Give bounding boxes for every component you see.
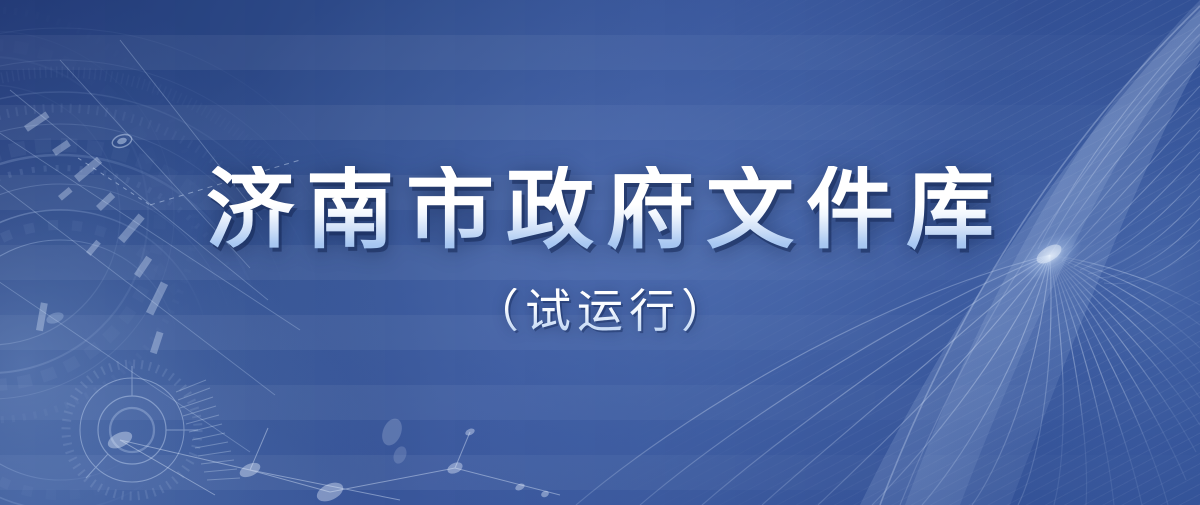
page-title: 济南市政府文件库 <box>194 166 1006 254</box>
government-document-library-banner: 济南市政府文件库 （试运行） <box>0 0 1200 505</box>
banner-content: 济南市政府文件库 （试运行） <box>0 0 1200 505</box>
page-subtitle: （试运行） <box>467 288 733 334</box>
